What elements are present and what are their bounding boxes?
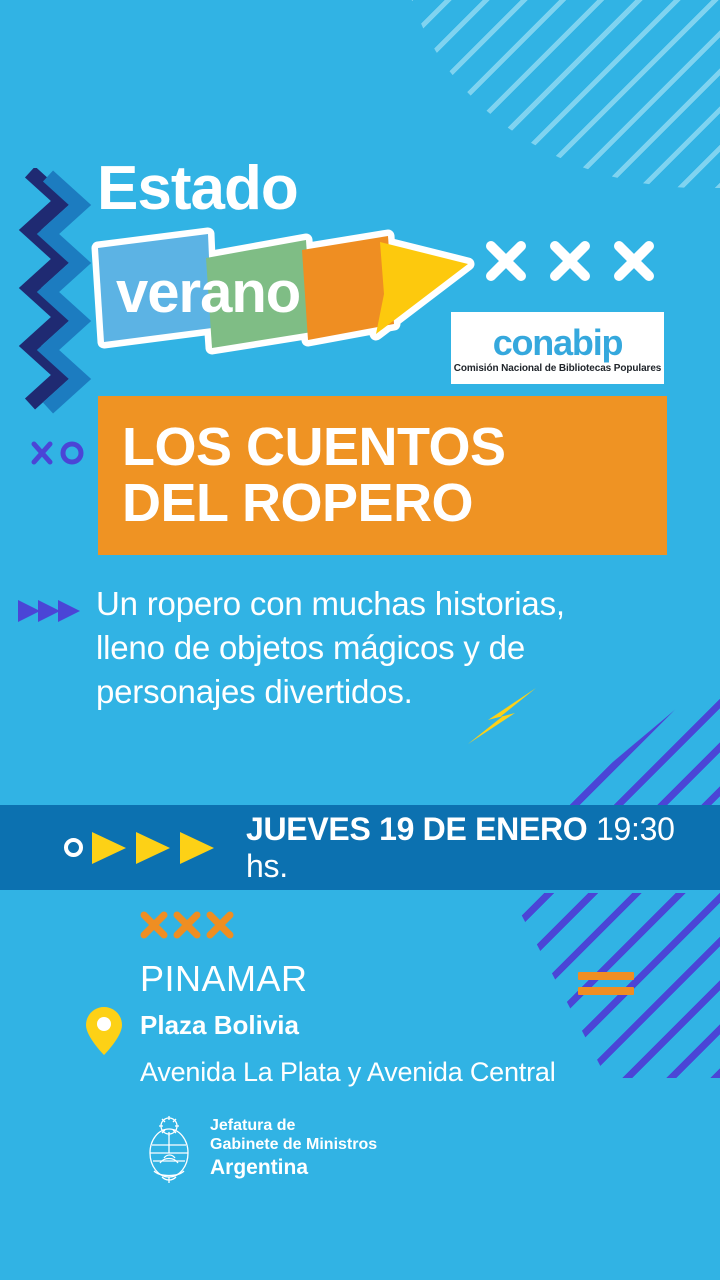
government-text: Jefatura de Gabinete de Ministros Argent… xyxy=(210,1117,377,1182)
location-city: PINAMAR xyxy=(140,958,308,1000)
event-title-line1: LOS CUENTOS xyxy=(122,420,667,475)
x-marks-orange-icon xyxy=(138,908,236,947)
event-title-line2: DEL ROPERO xyxy=(122,476,667,531)
diagonal-stripes-icon xyxy=(400,0,720,188)
event-date: JUEVES 19 DE ENERO xyxy=(246,811,587,847)
circle-outline-icon xyxy=(64,838,83,857)
description-line-3: personajes divertidos. xyxy=(96,670,565,714)
description-line-1: Un ropero con muchas historias, xyxy=(96,582,565,626)
program-title-estado: Estado xyxy=(97,158,298,220)
description-line-2: lleno de objetos mágicos y de xyxy=(96,626,565,670)
conabip-subtitle: Comisión Nacional de Bibliotecas Popular… xyxy=(454,363,662,374)
purple-stripes-lower-icon xyxy=(510,893,720,1078)
program-title-verano: verano xyxy=(116,264,300,322)
date-text-group: JUEVES 19 DE ENERO 19:30 hs. xyxy=(246,811,720,885)
location-address: Avenida La Plata y Avenida Central xyxy=(140,1057,556,1088)
argentina-coat-of-arms-icon xyxy=(140,1113,198,1185)
equals-mark-icon xyxy=(578,972,634,995)
location-venue: Plaza Bolivia xyxy=(140,1010,299,1041)
map-pin-icon xyxy=(84,1005,124,1062)
event-title-block: LOS CUENTOS DEL ROPERO xyxy=(98,396,667,555)
gov-line-3: Argentina xyxy=(210,1156,377,1181)
date-bar: JUEVES 19 DE ENERO 19:30 hs. xyxy=(0,805,720,890)
x-o-mark-icon xyxy=(30,438,88,473)
conabip-logo: conabip Comisión Nacional de Bibliotecas… xyxy=(451,312,664,384)
event-description: Un ropero con muchas historias, lleno de… xyxy=(16,582,676,714)
date-bar-markers xyxy=(64,828,222,868)
gov-line-1: Jefatura de xyxy=(210,1117,377,1136)
government-logo: Jefatura de Gabinete de Ministros Argent… xyxy=(140,1113,377,1185)
triangles-yellow-icon xyxy=(90,828,222,868)
gov-line-2: Gabinete de Ministros xyxy=(210,1136,377,1155)
verano-banner: verano xyxy=(88,224,478,356)
event-poster: Estado verano conabip Comisión Nacional … xyxy=(0,0,720,1280)
x-marks-white-icon xyxy=(484,238,656,289)
triangles-purple-icon xyxy=(16,582,82,714)
description-text: Un ropero con muchas historias, lleno de… xyxy=(96,582,565,714)
conabip-wordmark: conabip xyxy=(493,326,623,360)
